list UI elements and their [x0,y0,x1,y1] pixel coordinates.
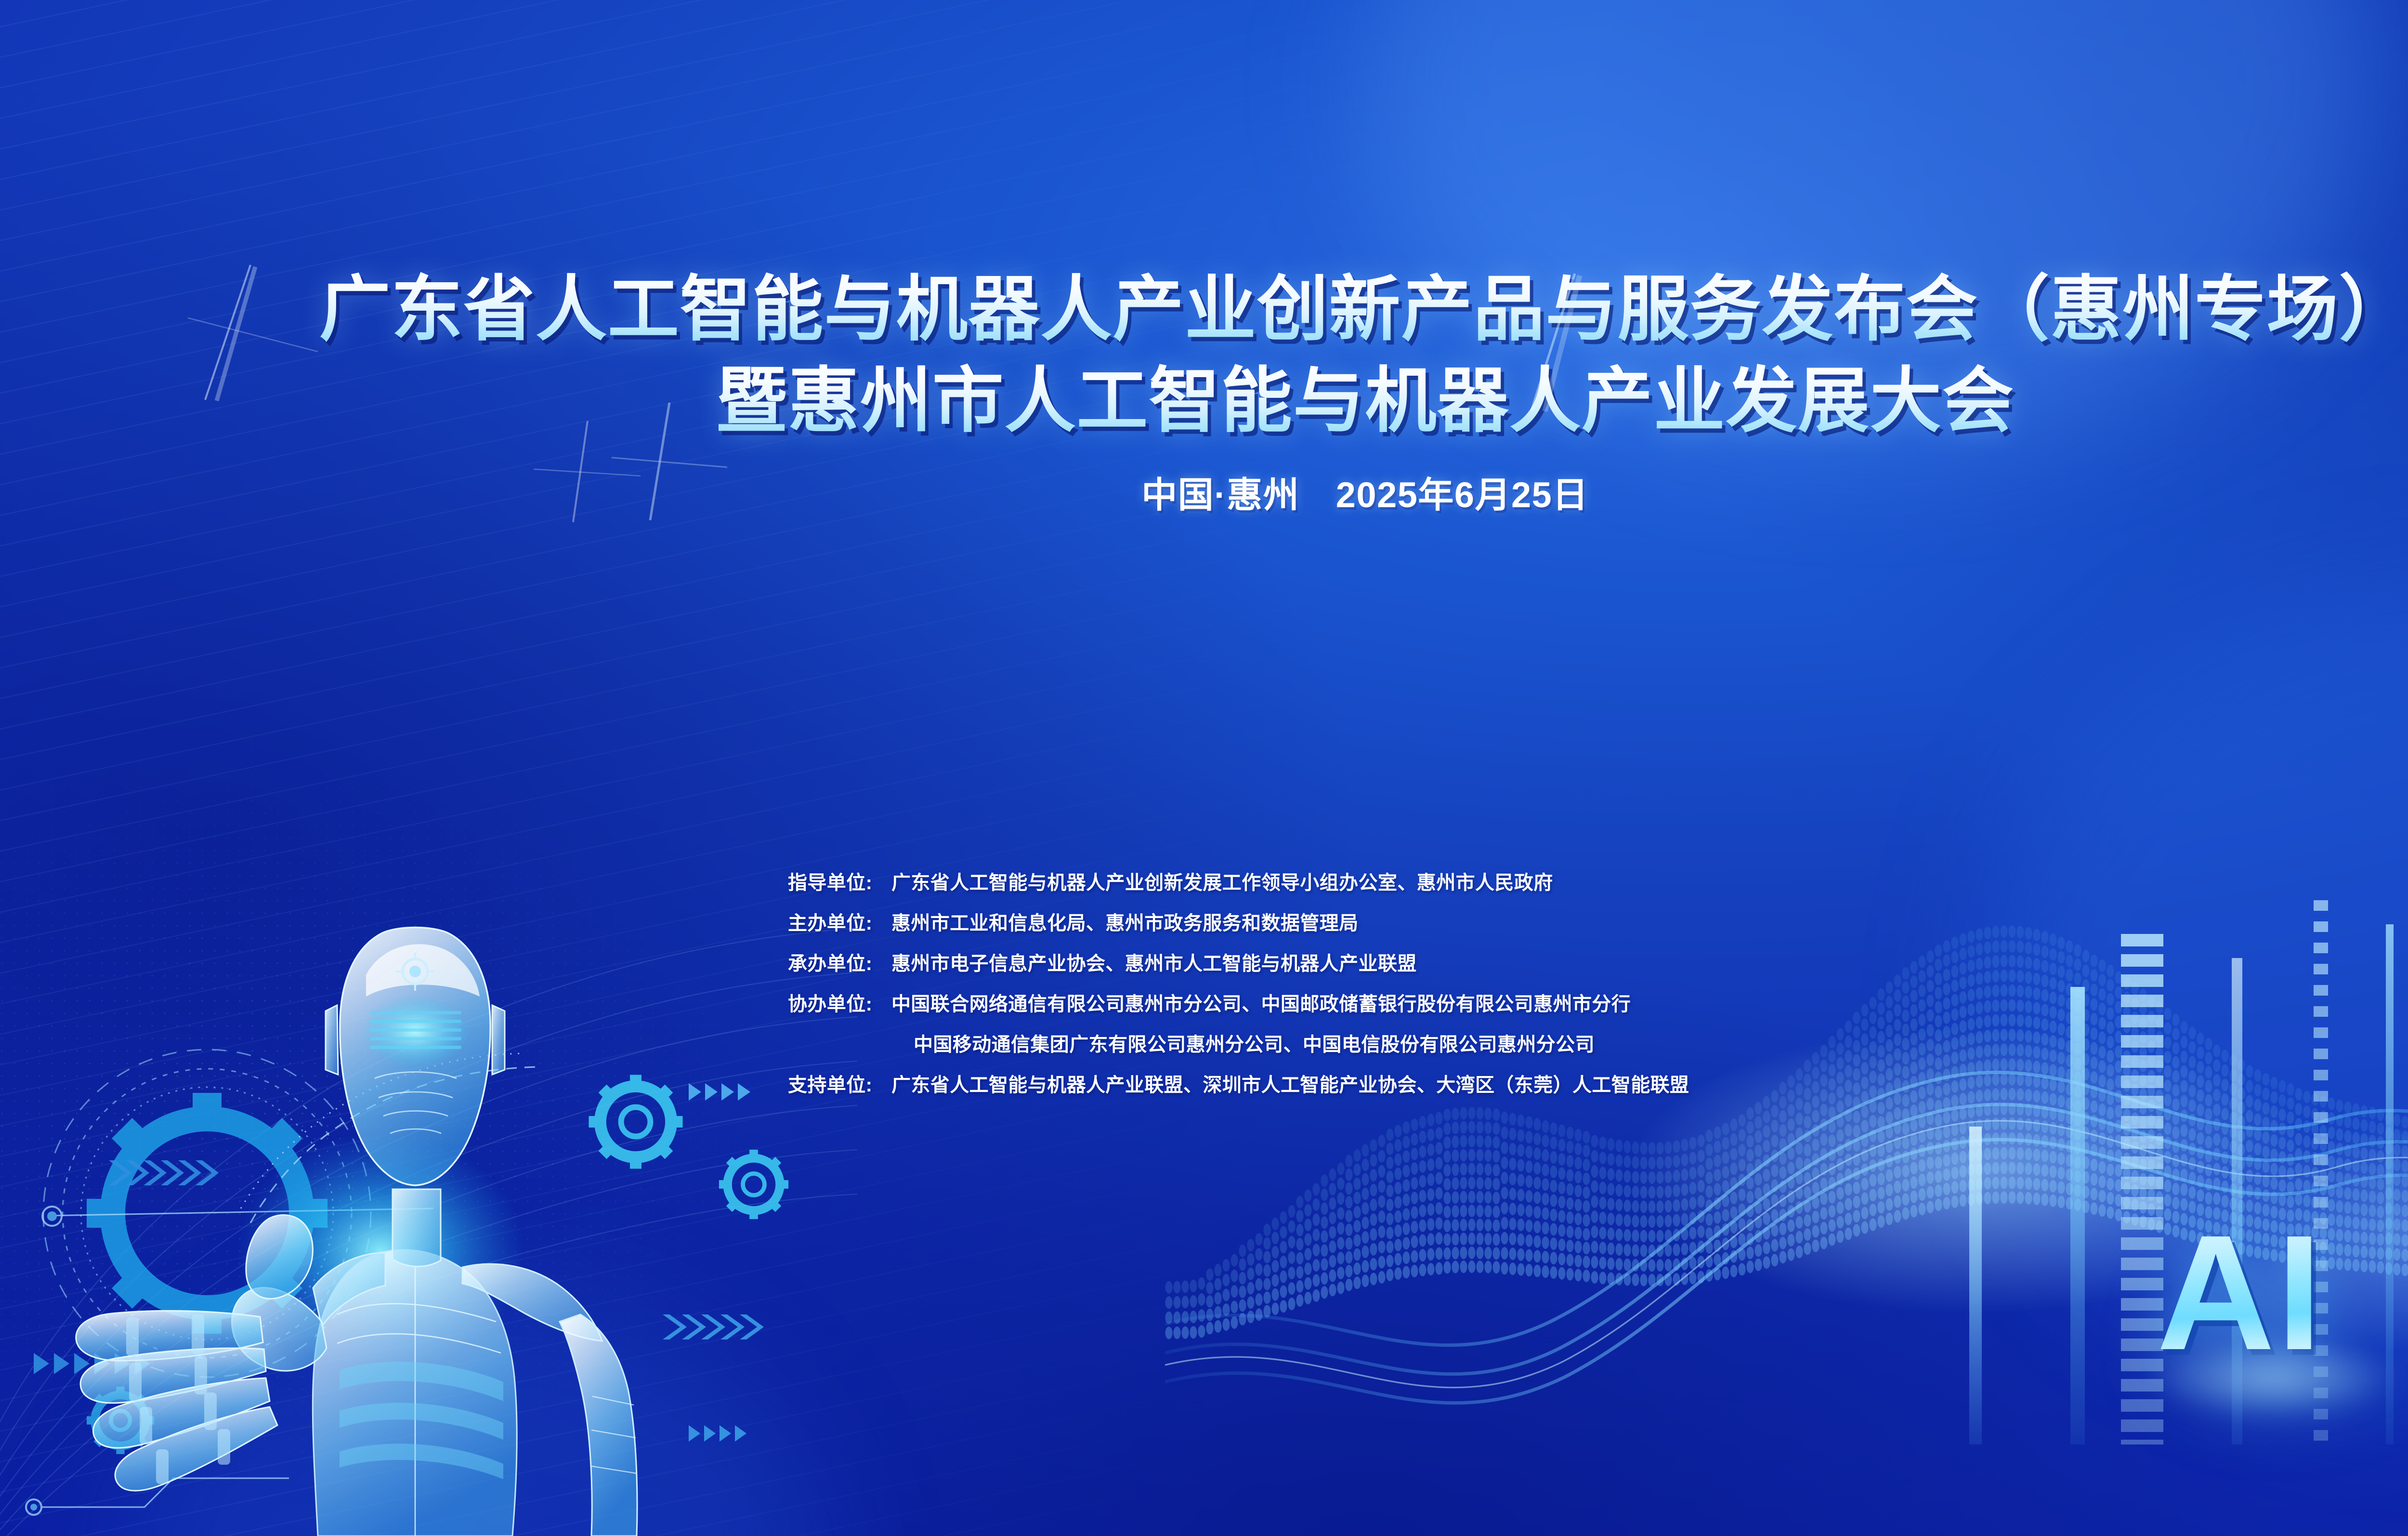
ai-wordmark: AI [2157,1226,2324,1360]
org-value: 惠州市工业和信息化局、惠州市政务服务和数据管理局 [891,907,1359,935]
org-value: 惠州市电子信息产业协会、惠州市人工智能与机器人产业联盟 [891,948,1417,976]
org-value: 广东省人工智能与机器人产业联盟、深圳市人工智能产业协会、大湾区（东莞）人工智能联… [891,1069,1689,1097]
org-label: 支持单位: [788,1069,891,1097]
list-item: 主办单位: 惠州市工业和信息化局、惠州市政务服务和数据管理局 [788,907,1689,935]
poster-subtitle: 中国·惠州 2025年6月25日 [0,466,2408,518]
organizations-list: 指导单位: 广东省人工智能与机器人产业创新发展工作领导小组办公室、惠州市人民政府… [788,867,1689,1110]
org-value: 中国移动通信集团广东有限公司惠州分公司、中国电信股份有限公司惠州分公司 [891,1029,1595,1057]
list-item: 指导单位: 广东省人工智能与机器人产业创新发展工作领导小组办公室、惠州市人民政府 [788,867,1689,895]
poster-title-block: 广东省人工智能与机器人产业创新产品与服务发布会（惠州专场） 暨惠州市人工智能与机… [0,270,2408,518]
org-value: 广东省人工智能与机器人产业创新发展工作领导小组办公室、惠州市人民政府 [891,867,1553,895]
org-label: 承办单位: [788,948,891,976]
org-value: 中国联合网络通信有限公司惠州市分公司、中国邮政储蓄银行股份有限公司惠州市分行 [891,988,1631,1016]
list-item: 协办单位: 中国联合网络通信有限公司惠州市分公司、中国邮政储蓄银行股份有限公司惠… [788,988,1689,1016]
list-item: 承办单位: 惠州市电子信息产业协会、惠州市人工智能与机器人产业联盟 [788,948,1689,976]
list-item: 支持单位: 广东省人工智能与机器人产业联盟、深圳市人工智能产业协会、大湾区（东莞… [788,1069,1689,1097]
org-label: 指导单位: [788,867,891,895]
org-label: 协办单位: [788,988,891,1016]
page-title-line-2: 暨惠州市人工智能与机器人产业发展大会 [0,361,2408,441]
org-label: 主办单位: [788,907,891,935]
humanoid-robot-figure [0,852,843,1536]
list-item-continuation: 协办单位: 中国移动通信集团广东有限公司惠州分公司、中国电信股份有限公司惠州分公… [788,1029,1689,1057]
page-title-line-1: 广东省人工智能与机器人产业创新产品与服务发布会（惠州专场） [0,270,2408,350]
